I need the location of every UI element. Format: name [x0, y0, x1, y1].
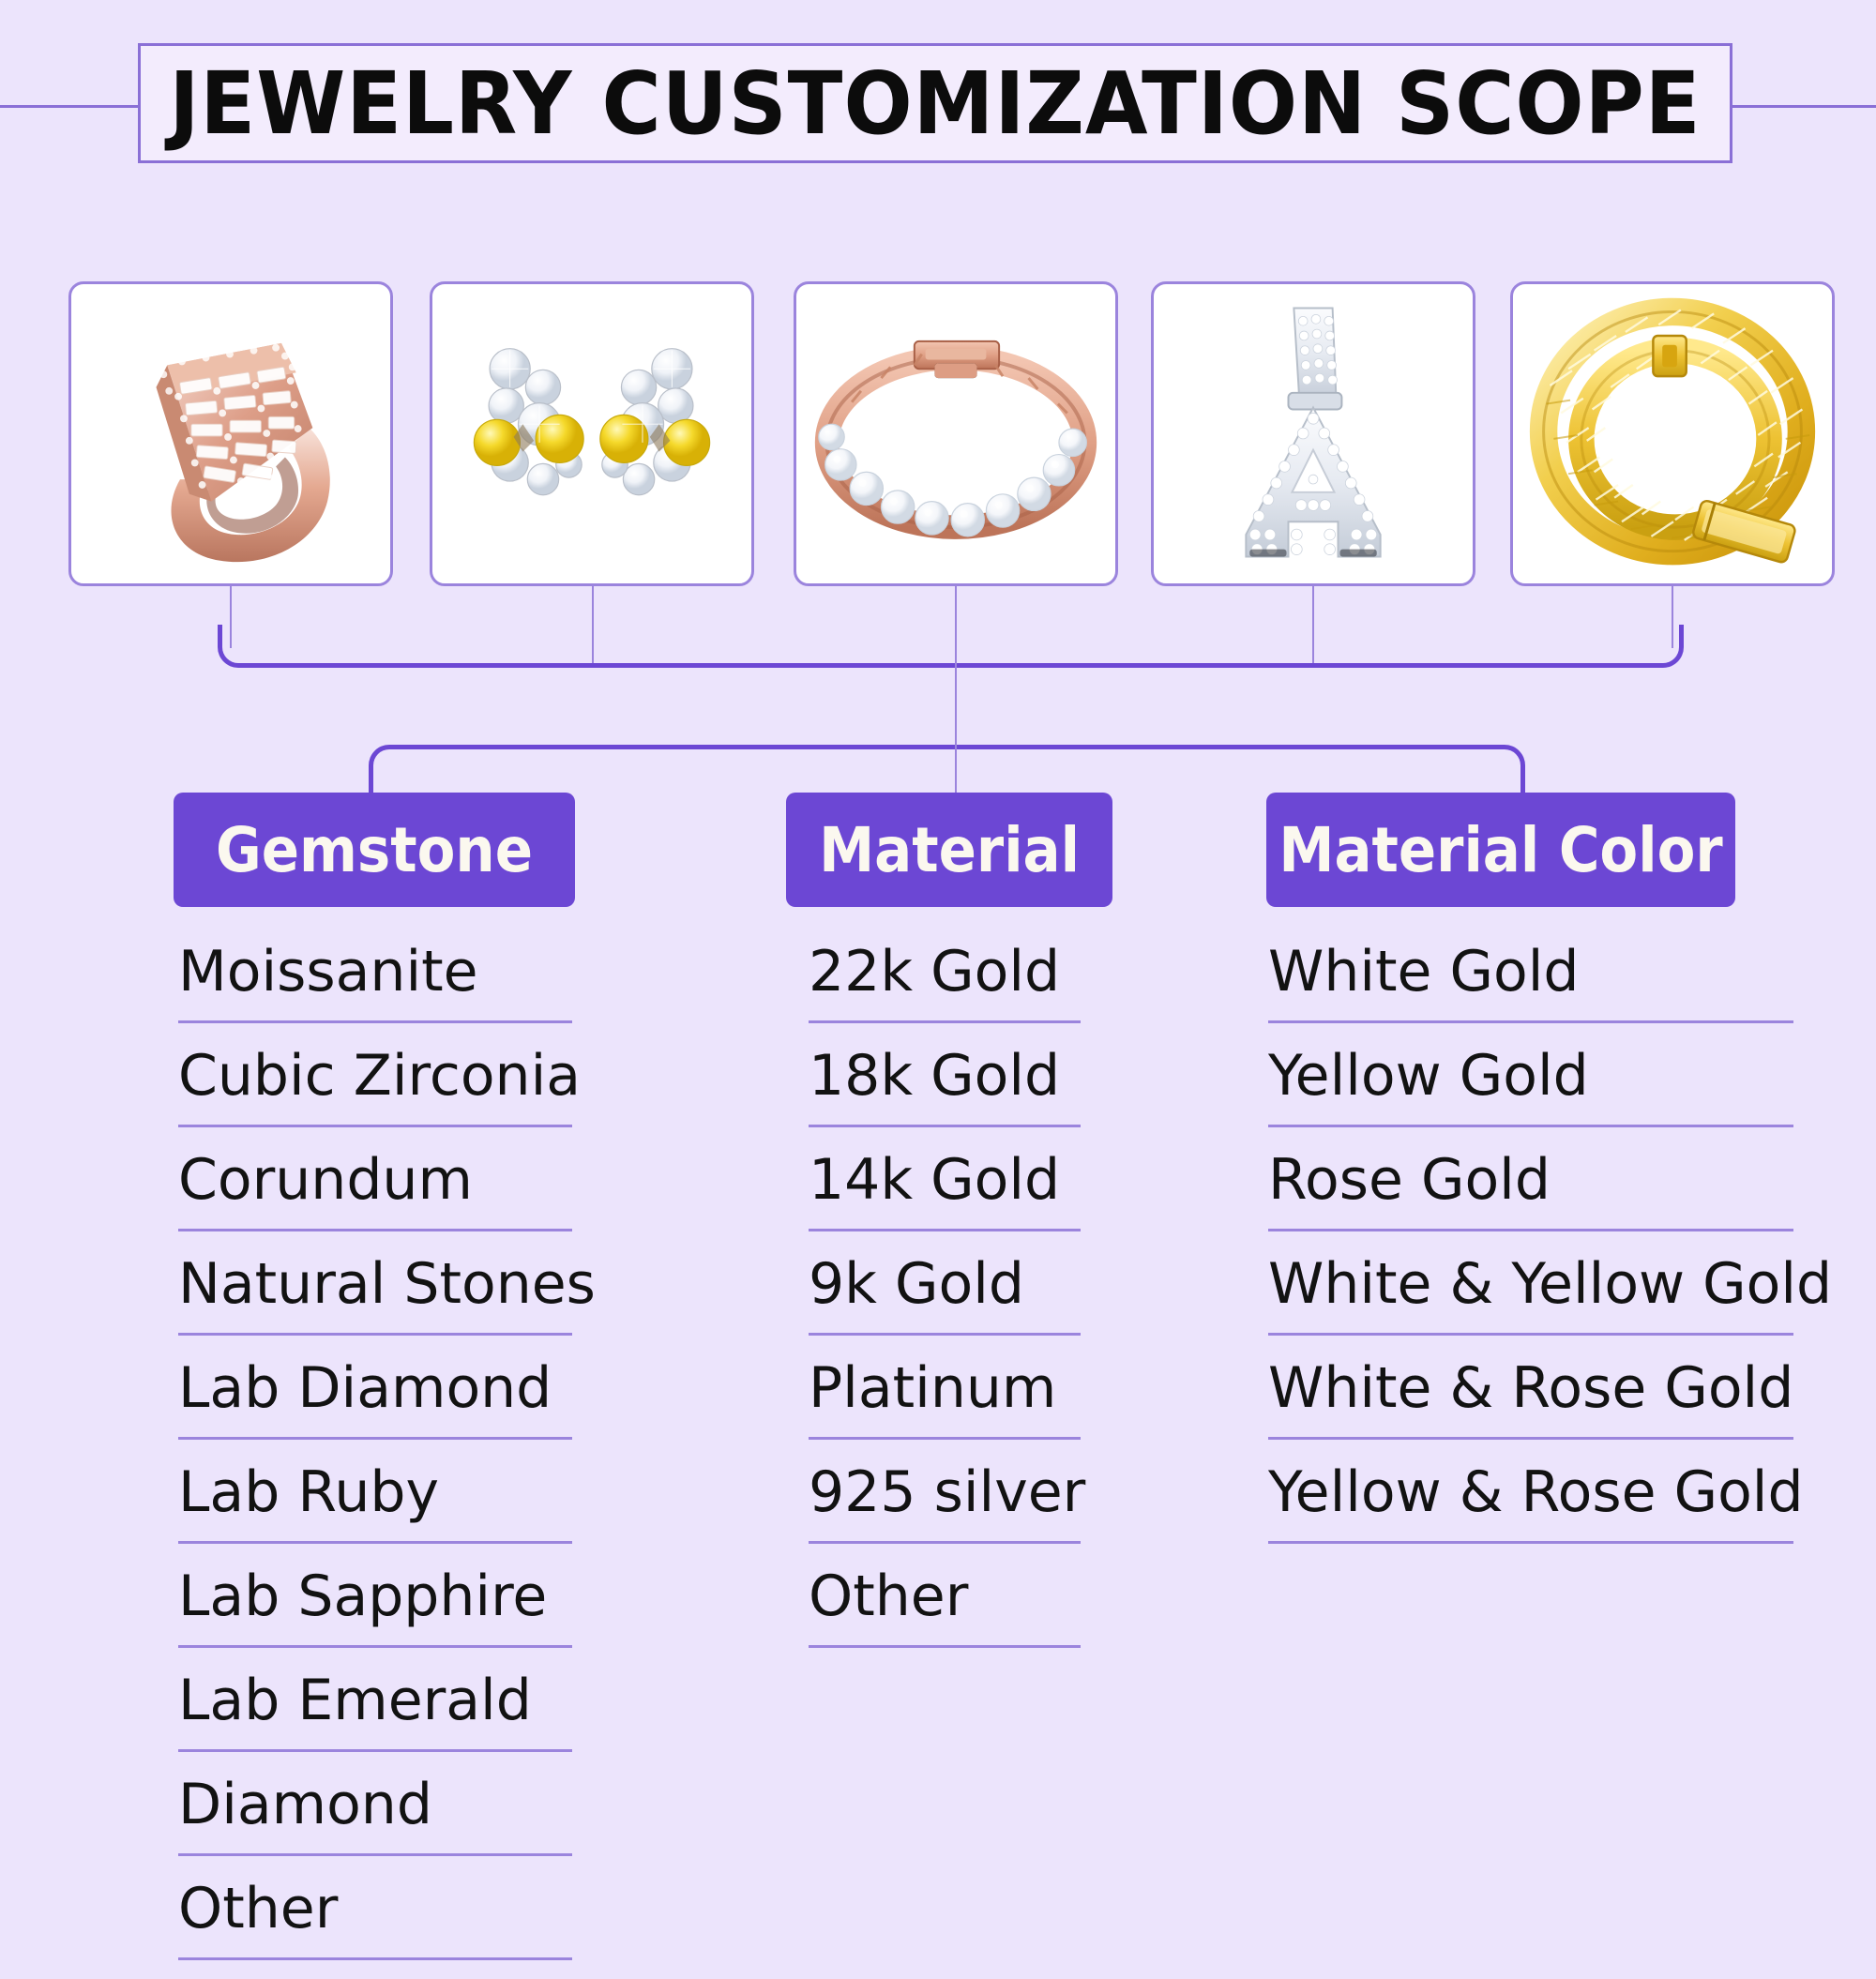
list-item[interactable]: Yellow & Rose Gold [1268, 1458, 1793, 1544]
yellow-white-diamond-earrings-icon [432, 284, 751, 583]
list-item[interactable]: Other [809, 1563, 1081, 1648]
list-item[interactable]: Corundum [178, 1146, 572, 1231]
product-card-pendant[interactable] [1151, 281, 1475, 586]
list-item[interactable]: Other [178, 1875, 572, 1960]
list-item[interactable]: Lab Ruby [178, 1458, 572, 1544]
category-header-material-label: Material [819, 814, 1080, 886]
category-header-material-color-label: Material Color [1278, 814, 1722, 886]
product-card-ring[interactable] [68, 281, 393, 586]
connector-drop-pendant [1312, 586, 1314, 666]
list-item[interactable]: 18k Gold [809, 1042, 1081, 1127]
list-item[interactable]: Lab Sapphire [178, 1563, 572, 1648]
category-list-gemstone: Moissanite Cubic Zirconia Corundum Natur… [178, 938, 572, 1979]
list-item[interactable]: 925 silver [809, 1458, 1081, 1544]
connector-bus-upper [239, 663, 1662, 668]
list-item[interactable]: Cubic Zirconia [178, 1042, 572, 1127]
connector-drop-earrings [592, 586, 594, 666]
category-header-material-color[interactable]: Material Color [1266, 793, 1735, 907]
product-card-bracelet[interactable] [794, 281, 1118, 586]
product-card-necklace[interactable] [1510, 281, 1835, 586]
list-item[interactable]: 14k Gold [809, 1146, 1081, 1231]
connector-spine-center [955, 663, 957, 748]
list-item[interactable]: 9k Gold [809, 1250, 1081, 1336]
rose-gold-tennis-bracelet-icon [796, 284, 1115, 583]
list-item[interactable]: Platinum [809, 1354, 1081, 1440]
list-item[interactable]: Natural Stones [178, 1250, 572, 1336]
connector-drop-bracelet [955, 586, 957, 666]
connector-corner-upper-right [1659, 625, 1684, 668]
category-header-gemstone[interactable]: Gemstone [174, 793, 575, 907]
product-card-earrings[interactable] [430, 281, 754, 586]
list-item[interactable]: Lab Emerald [178, 1667, 572, 1752]
list-item[interactable]: 22k Gold [809, 938, 1081, 1023]
rose-gold-pave-ring-icon [71, 284, 390, 583]
list-item[interactable]: White & Rose Gold [1268, 1354, 1793, 1440]
letter-a-pave-pendant-icon [1154, 284, 1473, 583]
connector-bus-lower [390, 745, 1504, 749]
connector-corner-lower-left [369, 745, 393, 793]
category-list-material: 22k Gold 18k Gold 14k Gold 9k Gold Plati… [809, 938, 1081, 1667]
connector-drop-material [955, 745, 957, 793]
connector-corner-upper-left [218, 625, 242, 668]
list-item[interactable]: White & Yellow Gold [1268, 1250, 1793, 1336]
list-item[interactable]: Yellow Gold [1268, 1042, 1793, 1127]
category-header-material[interactable]: Material [786, 793, 1112, 907]
list-item[interactable]: Moissanite [178, 938, 572, 1023]
list-item[interactable]: Diamond [178, 1771, 572, 1856]
connector-corner-lower-right [1501, 745, 1525, 793]
list-item[interactable]: White Gold [1268, 938, 1793, 1023]
gold-cuban-link-necklace-icon [1513, 284, 1832, 583]
list-item[interactable]: Rose Gold [1268, 1146, 1793, 1231]
list-item[interactable]: Lab Diamond [178, 1354, 572, 1440]
page-title: JEWELRY CUSTOMIZATION SCOPE [106, 43, 1764, 163]
category-header-gemstone-label: Gemstone [216, 814, 533, 886]
category-list-material-color: White Gold Yellow Gold Rose Gold White &… [1268, 938, 1793, 1563]
